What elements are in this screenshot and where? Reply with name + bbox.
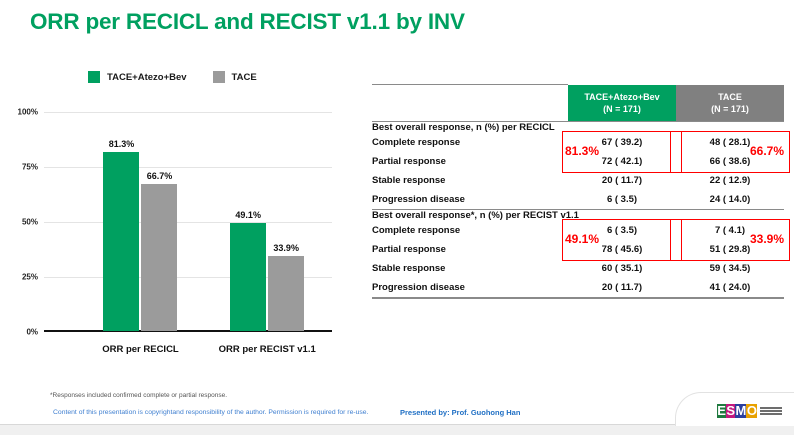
table-header-arm1-n: (N = 171) <box>568 103 676 115</box>
esmo-logo: ESMO <box>717 404 782 418</box>
table-section-heading-row: Best overall response, n (%) per RECICL <box>372 122 784 134</box>
highlight-percent-arm2: 33.9% <box>750 232 784 246</box>
table-row: Stable response60 ( 35.1)59 ( 34.5) <box>372 259 784 278</box>
esmo-logo-letter: E <box>717 404 726 418</box>
table-cell-arm2: 41 ( 24.0) <box>676 278 784 298</box>
legend-item-arm1: TACE+Atezo+Bev <box>88 71 187 83</box>
y-axis-tick-label: 25% <box>22 273 38 282</box>
table-cell-arm2: 24 ( 14.0) <box>676 190 784 210</box>
esmo-logo-tagline <box>760 407 782 415</box>
table-section-heading: Best overall response, n (%) per RECICL <box>372 122 784 134</box>
bar: 66.7% <box>141 184 177 331</box>
table-header-arm2-label: TACE <box>676 91 784 103</box>
x-axis-category-label: ORR per RECICL <box>102 344 179 355</box>
table-section-heading-row: Best overall response*, n (%) per RECIST… <box>372 210 784 222</box>
legend-item-arm2: TACE <box>213 71 257 83</box>
table-cell-arm1: 20 ( 11.7) <box>568 171 676 190</box>
table-row-label: Progression disease <box>372 278 568 298</box>
page-title: ORR per RECICL and RECIST v1.1 by INV <box>30 9 465 35</box>
table-header-blank <box>372 85 568 122</box>
esmo-logo-letter: S <box>726 404 735 418</box>
table-header-arm1-label: TACE+Atezo+Bev <box>568 91 676 103</box>
y-axis-tick-label: 75% <box>22 163 38 172</box>
table-header: TACE+Atezo+Bev (N = 171) TACE (N = 171) <box>372 85 784 122</box>
y-axis-tick-label: 50% <box>22 218 38 227</box>
chart-legend: TACE+Atezo+Bev TACE <box>88 71 257 83</box>
legend-swatch-arm1 <box>88 71 100 83</box>
gridline <box>44 167 332 168</box>
table-row-label: Stable response <box>372 171 568 190</box>
esmo-logo-letter: O <box>746 404 757 418</box>
legend-label-arm2: TACE <box>232 72 257 83</box>
bar-value-label: 81.3% <box>109 139 135 149</box>
table-row-label: Progression disease <box>372 190 568 210</box>
gridline <box>44 112 332 113</box>
footnote: *Responses included confirmed complete o… <box>50 392 227 399</box>
bar: 81.3% <box>103 152 139 331</box>
table-row-label: Stable response <box>372 259 568 278</box>
results-table: TACE+Atezo+Bev (N = 171) TACE (N = 171) … <box>372 84 784 299</box>
table-row: Stable response20 ( 11.7)22 ( 12.9) <box>372 171 784 190</box>
results-table-panel: TACE+Atezo+Bev (N = 171) TACE (N = 171) … <box>372 84 784 299</box>
copyright-notice: Content of this presentation is copyrigh… <box>53 409 368 416</box>
table-row-label: Partial response <box>372 152 568 171</box>
table-row-label: Complete response <box>372 133 568 152</box>
legend-label-arm1: TACE+Atezo+Bev <box>107 72 187 83</box>
table-row-label: Complete response <box>372 221 568 240</box>
gridline <box>44 222 332 223</box>
highlight-percent-arm1: 49.1% <box>565 232 599 246</box>
table-cell-arm1: 6 ( 3.5) <box>568 190 676 210</box>
esmo-logo-letter: M <box>735 404 746 418</box>
highlight-percent-arm2: 66.7% <box>750 144 784 158</box>
highlight-percent-arm1: 81.3% <box>565 144 599 158</box>
table-bottom-rule <box>372 298 784 299</box>
bar: 33.9% <box>268 256 304 331</box>
table-row: Progression disease20 ( 11.7)41 ( 24.0) <box>372 278 784 298</box>
bar-value-label: 66.7% <box>147 171 173 181</box>
table-cell-arm2: 22 ( 12.9) <box>676 171 784 190</box>
table-cell-arm1: 60 ( 35.1) <box>568 259 676 278</box>
plot-area: 0%25%50%75%100%81.3%66.7%ORR per RECICL4… <box>44 112 332 332</box>
bar-chart: TACE+Atezo+Bev TACE 0%25%50%75%100%81.3%… <box>0 62 365 362</box>
esmo-logo-letters: ESMO <box>717 404 757 418</box>
table-header-arm2-n: (N = 171) <box>676 103 784 115</box>
y-axis-tick-label: 0% <box>26 328 38 337</box>
table-section-heading: Best overall response*, n (%) per RECIST… <box>372 210 784 222</box>
bar-value-label: 49.1% <box>235 210 261 220</box>
bar-value-label: 33.9% <box>273 243 299 253</box>
table-row-label: Partial response <box>372 240 568 259</box>
legend-swatch-arm2 <box>213 71 225 83</box>
x-axis-category-label: ORR per RECIST v1.1 <box>219 344 316 355</box>
bar: 49.1% <box>230 223 266 331</box>
y-axis-tick-label: 100% <box>18 108 38 117</box>
presenter-credit: Presented by: Prof. Guohong Han <box>400 408 520 417</box>
table-header-arm1: TACE+Atezo+Bev (N = 171) <box>568 85 676 122</box>
table-header-arm2: TACE (N = 171) <box>676 85 784 122</box>
table-cell-arm1: 20 ( 11.7) <box>568 278 676 298</box>
table-cell-arm2: 59 ( 34.5) <box>676 259 784 278</box>
table-row: Progression disease6 ( 3.5)24 ( 14.0) <box>372 190 784 210</box>
